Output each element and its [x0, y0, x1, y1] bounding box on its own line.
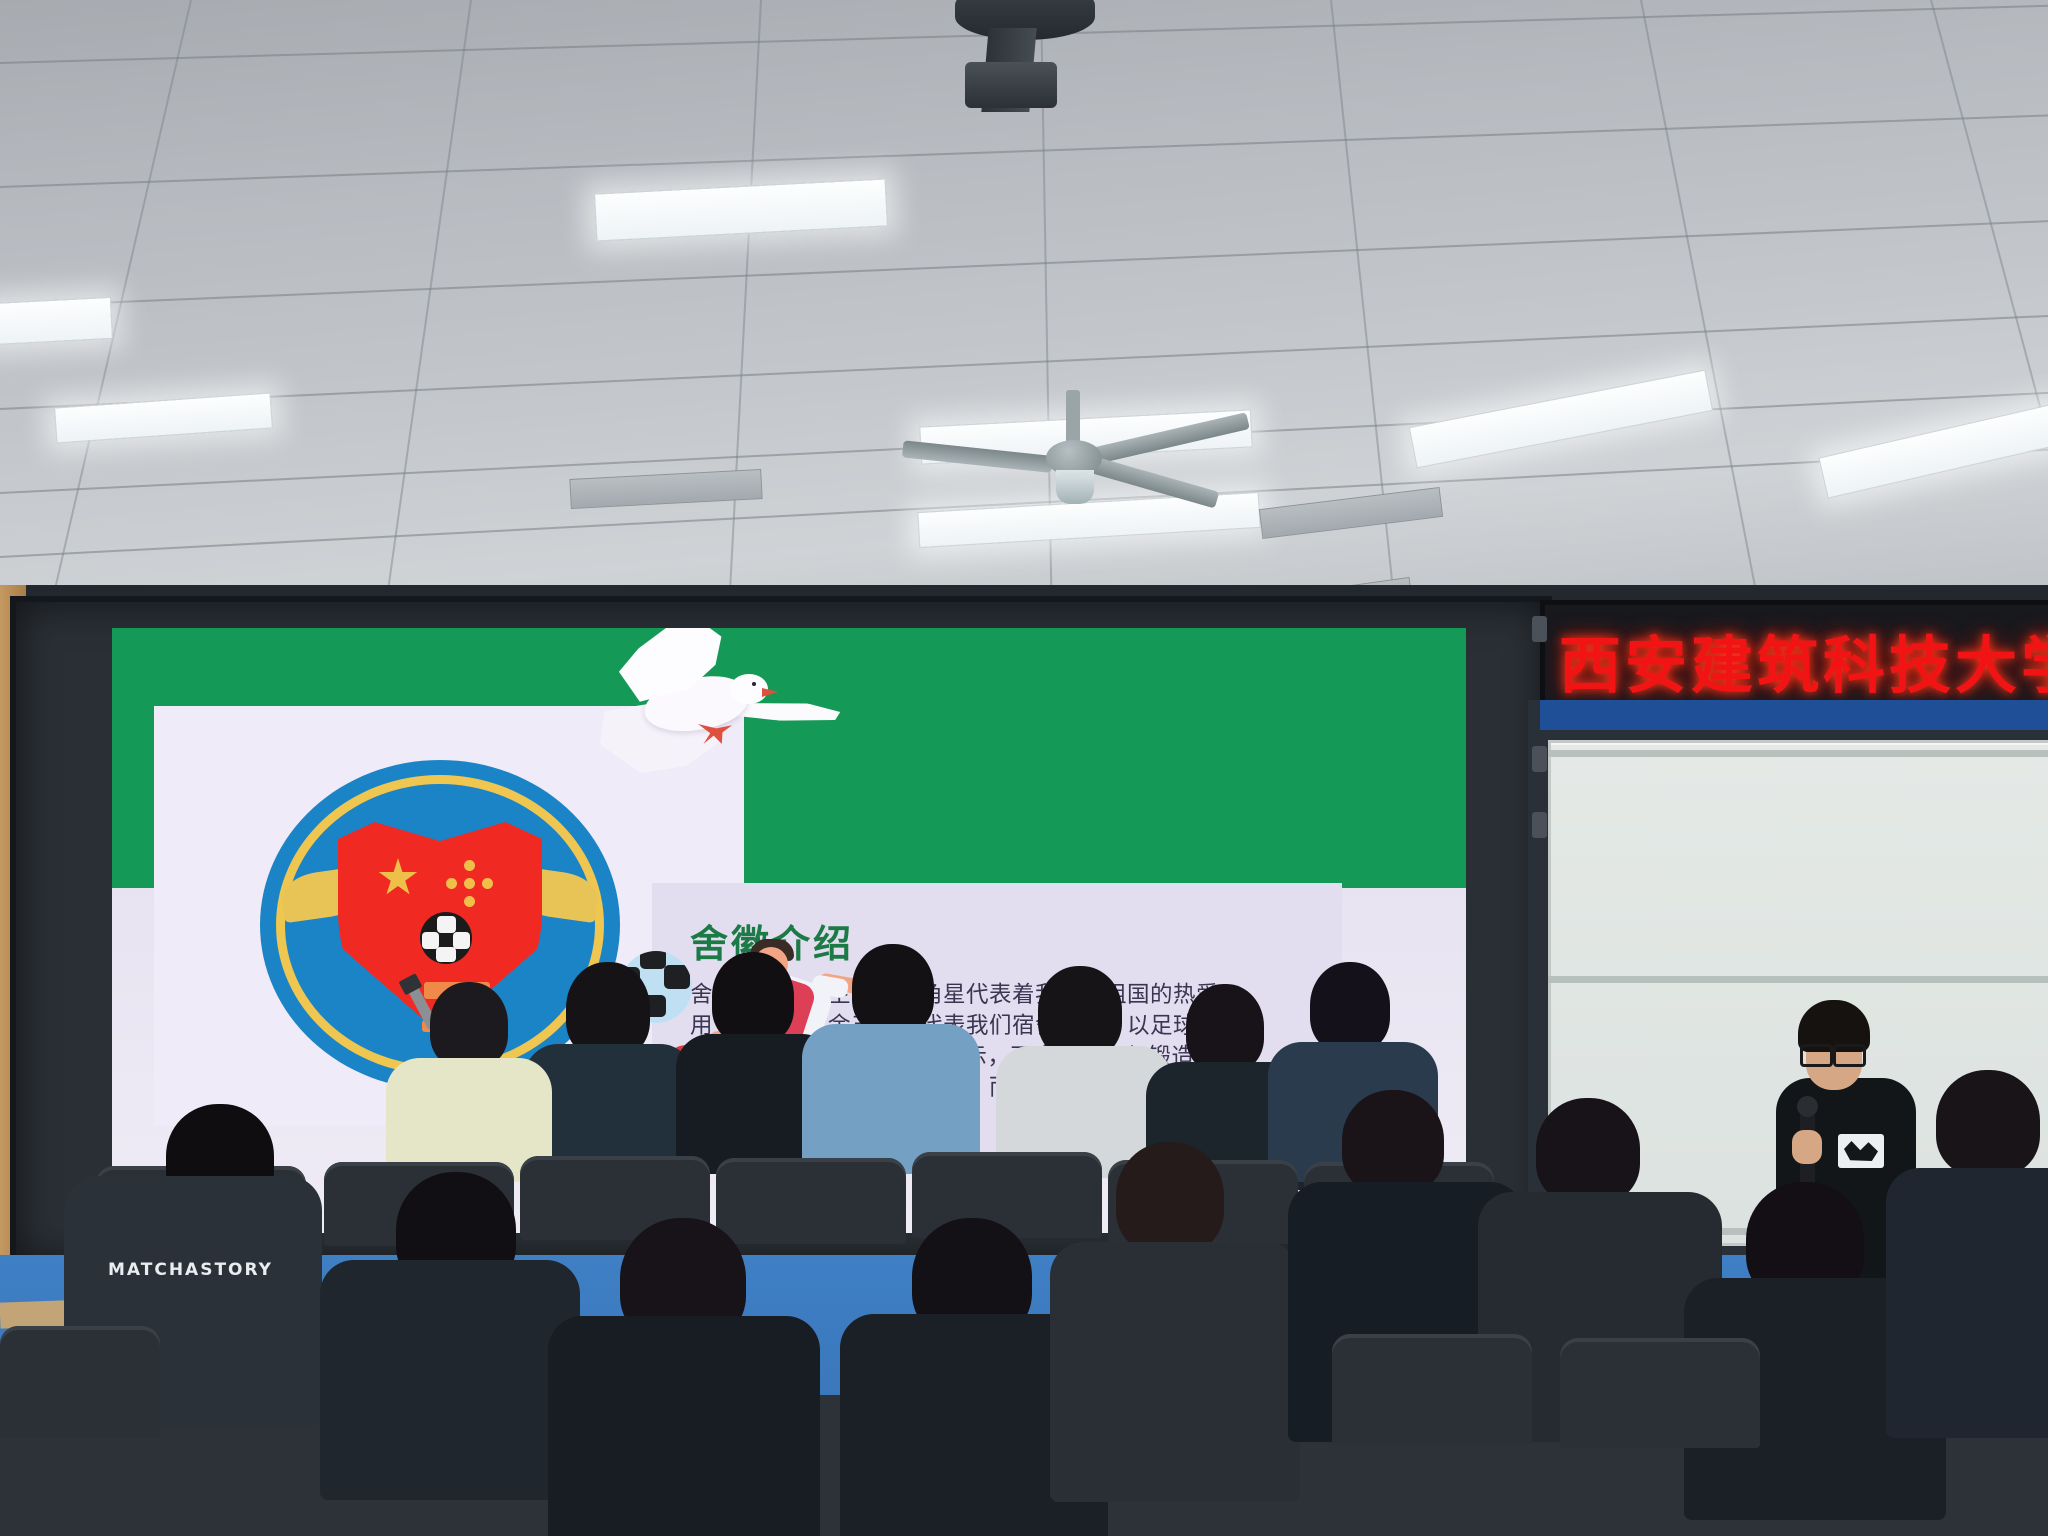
ceiling-fan-rod	[1066, 390, 1080, 444]
emblem-soccer-ball-icon	[420, 912, 472, 964]
emblem-dot-icon	[464, 878, 475, 889]
whiteboard-hinge	[1532, 746, 1547, 772]
ceiling	[0, 0, 2048, 620]
audience-person	[320, 1260, 580, 1500]
audience-person	[1886, 1168, 2048, 1438]
jacket-text: MATCHASTORY	[108, 1260, 273, 1280]
emblem-dot-icon	[464, 896, 475, 907]
led-banner-text: 西安建筑科技大学草	[1545, 615, 2048, 705]
emblem-dot-icon	[464, 860, 475, 871]
audience-head	[430, 982, 508, 1068]
emblem-dot-icon	[482, 878, 493, 889]
whiteboard-hinge	[1532, 616, 1547, 642]
audience: MATCHASTORY	[0, 1230, 2048, 1536]
glasses-icon	[1800, 1044, 1866, 1061]
audience-head	[712, 952, 794, 1044]
audience-person	[548, 1316, 820, 1536]
audience-head	[1310, 962, 1390, 1052]
ceiling-fan-light	[1056, 470, 1094, 504]
auditorium-seat	[1332, 1334, 1532, 1444]
audience-head	[1342, 1090, 1444, 1194]
auditorium-seat	[1560, 1338, 1760, 1448]
whiteboard-rail	[1548, 976, 2048, 983]
auditorium-seat	[716, 1158, 906, 1244]
whiteboard-top-trim	[1540, 700, 2048, 730]
audience-head	[1936, 1070, 2040, 1176]
auditorium-seat	[0, 1326, 160, 1438]
audience-head	[1116, 1142, 1224, 1254]
whiteboard-rail	[1548, 750, 2048, 757]
ceiling-light-panel	[0, 297, 113, 345]
jacket-graphic	[1838, 1134, 1884, 1168]
emblem-dot-icon	[446, 878, 457, 889]
audience-head	[1186, 984, 1264, 1072]
audience-head	[852, 944, 934, 1034]
whiteboard-hinge	[1532, 812, 1547, 838]
presenter-hand	[1792, 1130, 1822, 1164]
lecture-hall-photo: 舍徽介绍 舍徽以红色为主体，五角星代表着我们对祖国的热爱 用五点代替其余五星也代…	[0, 0, 2048, 1536]
projector-body	[965, 62, 1057, 108]
audience-person	[1050, 1242, 1300, 1502]
audience-head	[1038, 966, 1122, 1058]
dove-illustration	[580, 628, 810, 796]
audience-head	[1536, 1098, 1640, 1204]
